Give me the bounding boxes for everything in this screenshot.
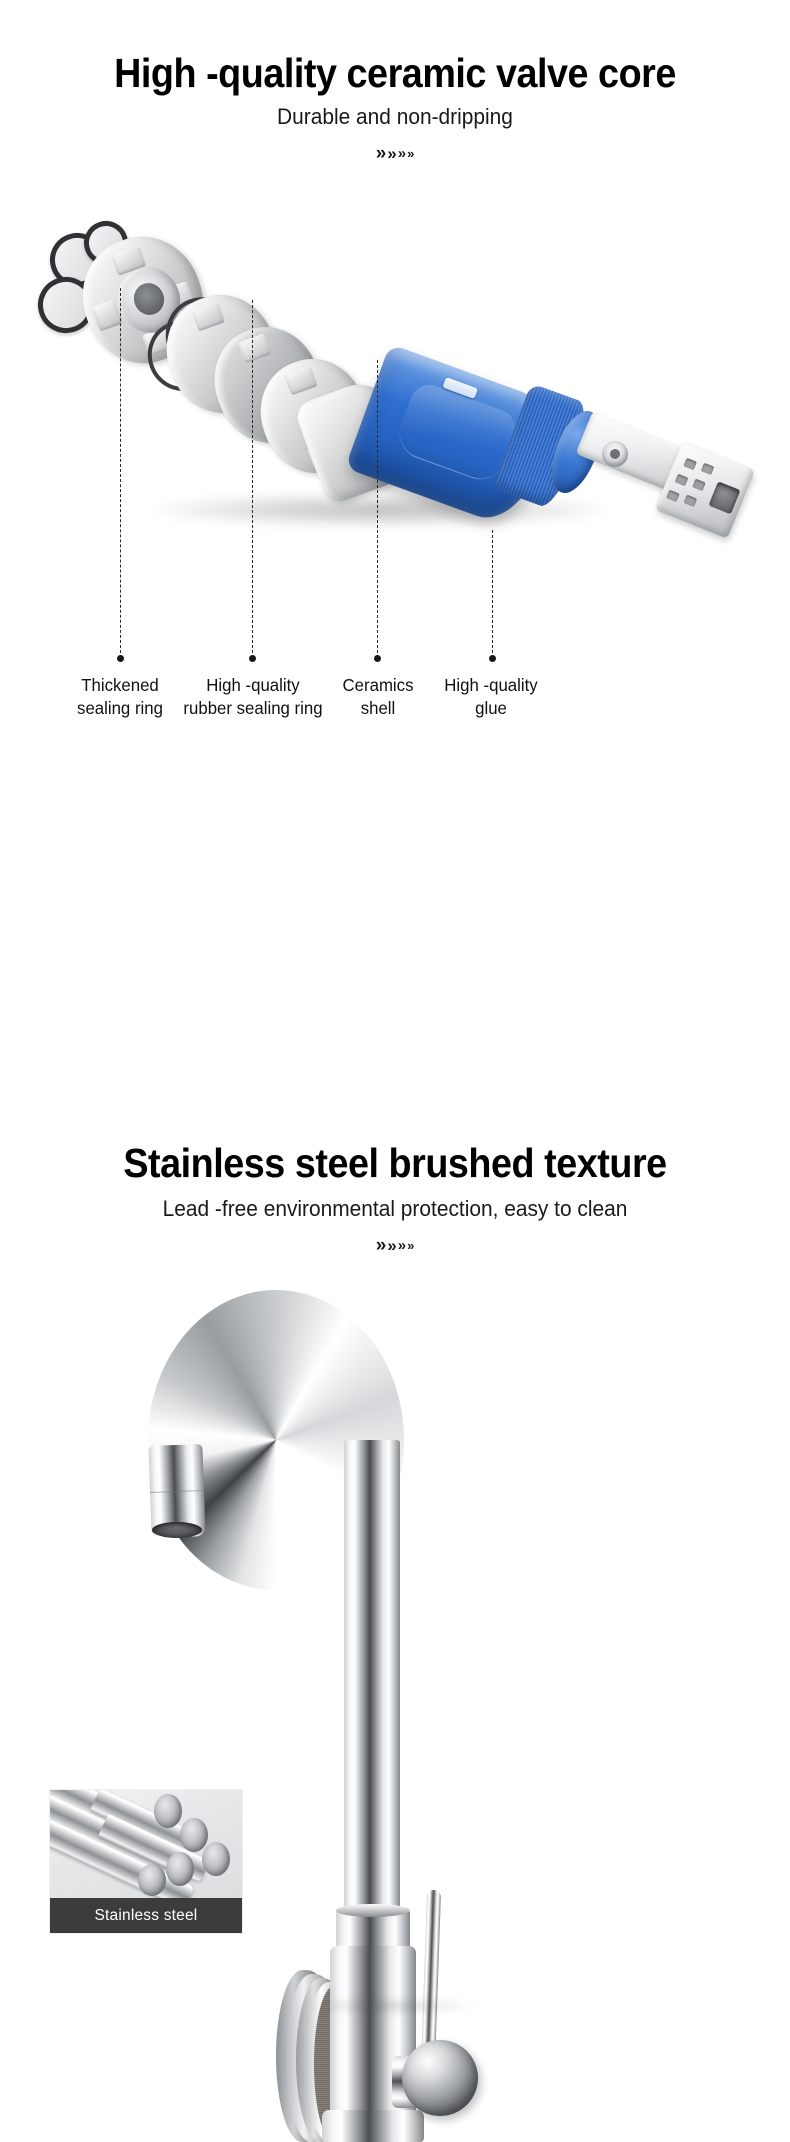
inset-caption-text: Stainless steel xyxy=(95,1907,198,1925)
steel-bar-end-face xyxy=(202,1842,230,1876)
disc-notch xyxy=(238,333,272,363)
callout-line-1: Ceramics xyxy=(332,674,424,697)
leader-line-3 xyxy=(377,360,378,658)
leader-dot-2 xyxy=(249,655,256,662)
chevron-ornament-top: » » » » xyxy=(0,144,790,163)
valve-core-illustration xyxy=(0,175,790,645)
callout-thickened-sealing-ring: Thickened sealing ring xyxy=(47,674,193,720)
faucet-collar-top xyxy=(336,1904,410,1917)
leader-line-4 xyxy=(492,530,493,658)
chevron-double-right-icon: » xyxy=(407,1239,414,1252)
section-ceramic-valve-subtitle-wrap: Durable and non-dripping xyxy=(0,104,790,130)
steel-bar-end-face xyxy=(166,1852,194,1886)
leader-line-1 xyxy=(120,288,121,658)
faucet-lever-knob xyxy=(402,2040,478,2116)
section-stainless-steel-subtitle: Lead -free environmental protection, eas… xyxy=(20,1196,771,1222)
section-stainless-steel-title-wrap: Stainless steel brushed texture xyxy=(0,1142,790,1185)
leader-dot-4 xyxy=(489,655,496,662)
section-ceramic-valve-subtitle: Durable and non-dripping xyxy=(20,104,771,130)
faucet-aerator xyxy=(152,1522,202,1538)
chevron-double-right-icon: » xyxy=(376,144,387,163)
stem-vent-hole xyxy=(701,463,715,475)
callout-line-2: shell xyxy=(332,697,424,720)
spout-seam-line xyxy=(150,1490,204,1493)
steel-bar-end-face xyxy=(180,1818,208,1852)
leader-dot-1 xyxy=(117,655,124,662)
callout-ceramics-shell: Ceramics shell xyxy=(332,674,424,720)
valve-core-parts xyxy=(40,195,740,615)
section-stainless-steel-title: Stainless steel brushed texture xyxy=(32,1142,759,1185)
chevron-double-right-icon: » xyxy=(398,1238,406,1253)
callout-line-2: glue xyxy=(431,697,552,720)
chevron-double-right-icon: » xyxy=(376,1236,387,1255)
stem-center-bore xyxy=(708,481,740,514)
disc-notch xyxy=(284,365,318,395)
leader-line-2 xyxy=(252,300,253,658)
callout-line-1: High -quality xyxy=(431,674,552,697)
section-ceramic-valve-title-wrap: High -quality ceramic valve core xyxy=(0,52,790,95)
chevron-double-right-icon: » xyxy=(387,1237,396,1254)
stem-vent-hole xyxy=(675,474,689,486)
stem-port-hole xyxy=(608,447,621,460)
chevron-double-right-icon: » xyxy=(407,147,414,160)
stainless-steel-photo xyxy=(50,1790,242,1898)
callout-line-1: High -quality xyxy=(179,674,327,697)
disc-notch xyxy=(191,301,225,331)
stem-vent-hole xyxy=(692,479,706,491)
callout-line-1: Thickened xyxy=(47,674,193,697)
stem-vent-hole xyxy=(666,490,680,502)
chevron-double-right-icon: » xyxy=(398,146,406,161)
callout-line-2: sealing ring xyxy=(47,697,193,720)
section-stainless-steel-subtitle-wrap: Lead -free environmental protection, eas… xyxy=(0,1196,790,1222)
leader-dot-3 xyxy=(374,655,381,662)
callout-high-quality-glue: High -quality glue xyxy=(431,674,552,720)
product-detail-page: High -quality ceramic valve core Durable… xyxy=(0,0,790,2142)
stem-vent-hole xyxy=(683,458,697,470)
inset-caption-bar: Stainless steel xyxy=(50,1898,242,1933)
callout-line-2: rubber sealing ring xyxy=(179,697,327,720)
faucet-riser-column xyxy=(344,1440,400,1915)
steel-bar-end-face xyxy=(138,1864,166,1896)
steel-bar-end-face xyxy=(154,1794,182,1828)
stainless-steel-inset-card: Stainless steel xyxy=(50,1790,242,1933)
faucet-base xyxy=(322,2110,424,2142)
section-ceramic-valve-title: High -quality ceramic valve core xyxy=(32,52,759,95)
chevron-double-right-icon: » xyxy=(387,145,396,162)
stem-vent-hole xyxy=(684,495,698,507)
callout-rubber-sealing-ring: High -quality rubber sealing ring xyxy=(179,674,327,720)
faucet-drop-shadow xyxy=(300,1998,480,2014)
chevron-ornament-bottom: » » » » xyxy=(0,1236,790,1255)
